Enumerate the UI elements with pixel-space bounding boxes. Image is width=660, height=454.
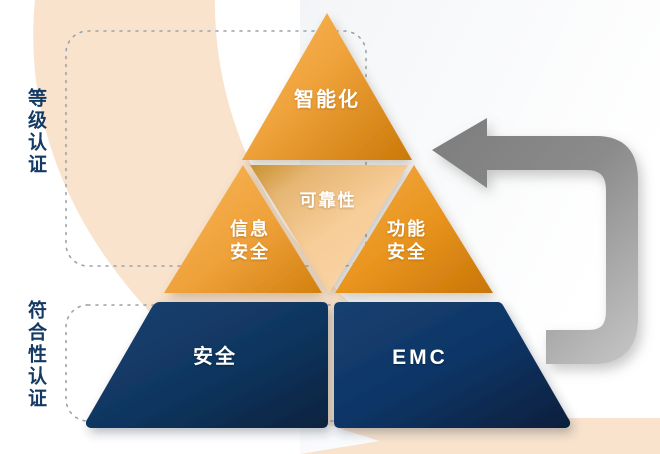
pyramid-tier-bottom[interactable] <box>86 302 570 428</box>
side-label-grade-certification: 等级认证 <box>25 88 45 176</box>
side-label-compliance-certification: 符合性认证 <box>25 300 45 410</box>
diagram-canvas: 等级认证 符合性认证 智能化 信息 安全 可靠性 功能 安全 安全 EMC <box>0 0 660 454</box>
diagram-graphics <box>0 0 660 454</box>
